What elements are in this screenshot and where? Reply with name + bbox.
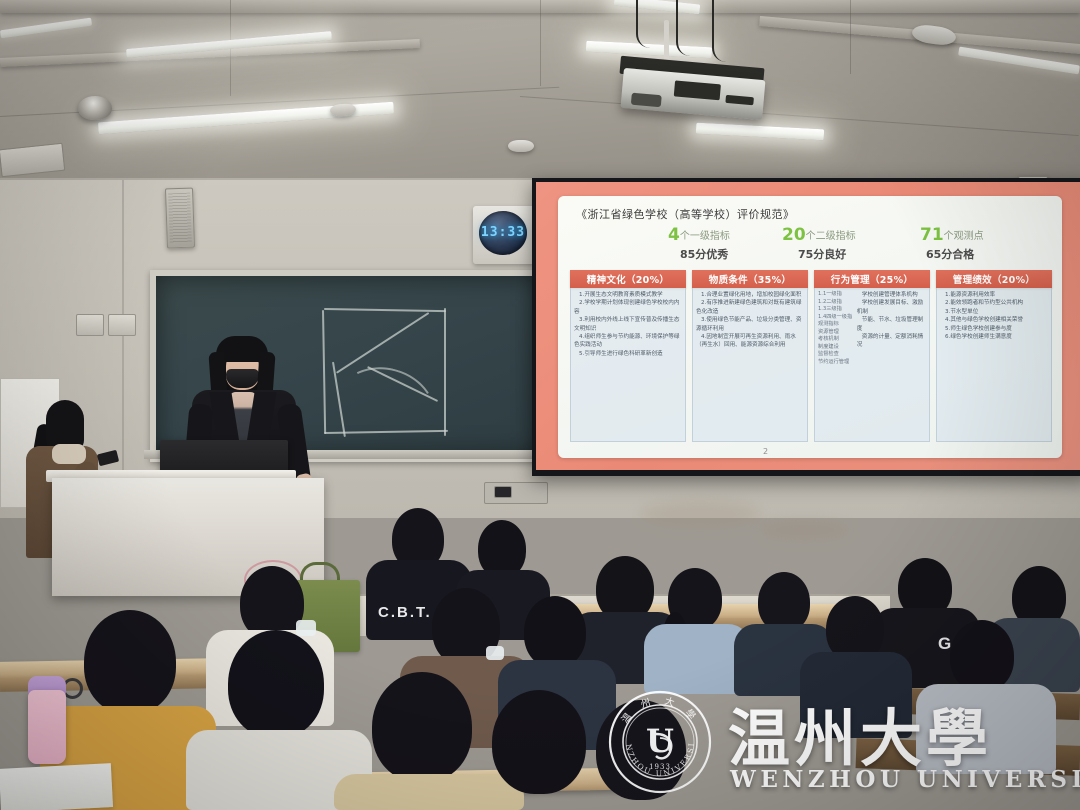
column-item: 资源的计量、定额消耗情况 [857, 333, 926, 350]
slide-title: 《浙江省绿色学校（高等学校）评价规范》 [576, 206, 795, 222]
kpi-number: 20 [782, 225, 806, 245]
student-head [228, 630, 324, 738]
chalk-stroke [444, 308, 446, 436]
dome-camera-icon [78, 96, 112, 120]
projection-screen: 《浙江省绿色学校（高等学校）评价规范》 4个一级指标 20个二级指标 71个观测… [532, 178, 1080, 476]
student-head [758, 572, 810, 632]
column-item: 2.有序推进新建绿色建筑和对既有建筑绿色化改造 [696, 299, 804, 316]
column-header: 行为管理（25%） [814, 270, 930, 288]
slide-score: 75分良好 [798, 246, 846, 262]
student-torso [800, 652, 912, 738]
column-item: 6.绿色学校创建师生满意度 [940, 333, 1048, 341]
projector-cable [676, 0, 700, 56]
slide-column-spiritual-culture: 精神文化（20%） 1.开展生态文明教育素质模式教学 2.学校学期计划体现创建绿… [570, 270, 686, 442]
presenter-face-mask [226, 369, 259, 388]
student-head [240, 566, 304, 640]
speaker-grill [168, 193, 192, 244]
clock-face: 13:33 [479, 211, 527, 255]
standing-person-collar [52, 444, 86, 464]
column-sub-list: 1.1一级指 1.2二级指 1.3三级指 1.4四级一级指 观测指标 资源管理 … [818, 291, 855, 439]
column-item: 4.组织师生参与节约能源、环境保护等绿色实践活动 [574, 333, 682, 350]
face-mask [486, 646, 504, 660]
column-item: 3.使用绿色节能产品、垃圾分类管理、资源循环利用 [696, 316, 804, 333]
slide-page-number: 2 [763, 447, 768, 456]
kpi-number: 4 [668, 225, 680, 245]
column-header: 管理绩效（20%） [936, 270, 1052, 288]
slide-score-row: 85分优秀 75分良好 65分合格 [590, 246, 1038, 264]
wall-switch-plate[interactable] [108, 314, 136, 336]
student-head [84, 610, 176, 714]
clock-time: 13:33 [479, 225, 527, 240]
column-note: 5.采用智能化技术进行校园建筑及设备的绿色运行管理 [818, 441, 926, 442]
slide-kpi-row: 4个一级指标 20个二级指标 71个观测点 [590, 224, 1038, 246]
column-item: 节能、节水、垃圾管理制度 [857, 316, 926, 333]
kpi-label: 个一级指标 [680, 231, 730, 242]
projector-panel [674, 80, 721, 100]
slide-score: 65分合格 [926, 246, 974, 262]
ceiling-panel-line [850, 0, 851, 74]
column-item: 3.节水型单位 [940, 308, 1048, 316]
student-torso [916, 684, 1056, 774]
wall-switch-plate[interactable] [76, 314, 104, 336]
paper-on-desk [0, 763, 113, 810]
projector-port [725, 95, 754, 105]
projector-lens [631, 93, 662, 108]
student-head [524, 596, 586, 668]
column-body: 1.1一级指 1.2二级指 1.3三级指 1.4四级一级指 观测指标 资源管理 … [814, 288, 930, 442]
column-item: 学校创建发展目标、激励机制 [857, 299, 926, 316]
projector-cable [712, 0, 740, 62]
student-torso [334, 774, 524, 810]
column-item: 5.师生绿色学校创建参与度 [940, 325, 1048, 333]
face-mask [296, 620, 316, 636]
column-main-list: 学校创建管理体系机构 学校创建发展目标、激励机制 节能、节水、垃圾管理制度 资源… [857, 291, 926, 439]
column-sub-item: 监督检查 [818, 351, 855, 359]
chalk-stroke [322, 310, 326, 434]
column-item: 2.能效领跑者和节约型公共机构 [940, 299, 1048, 307]
student-head [372, 672, 472, 782]
column-item: 2.学校学期计划体现创建绿色学校校内内容 [574, 299, 682, 316]
kpi-number: 71 [920, 225, 944, 245]
column-item: 1.开展生态文明教育素质模式教学 [574, 291, 682, 299]
column-item: 3.利用校内外线上线下宣传普及传播生态文明知识 [574, 316, 682, 333]
column-item: 4.其他与绿色学校创建相关荣誉 [940, 316, 1048, 324]
column-sub-item: 观测指标 [818, 321, 855, 329]
slide-kpi: 4个一级指标 [668, 224, 730, 245]
column-sub-item: 1.2二级指 [818, 299, 855, 307]
column-header: 精神文化（20%） [570, 270, 686, 288]
column-header: 物质条件（35%） [692, 270, 808, 288]
smoke-detector-icon [508, 140, 534, 152]
wall-smudge [760, 520, 850, 540]
column-sub-item: 1.4四级一级指 [818, 314, 855, 322]
column-item: 1.能源资源利用效率 [940, 291, 1048, 299]
column-item: 4.因地制宜开展可再生资源利用、雨水（再生水）回用、能源资源综合利用 [696, 333, 804, 350]
slide-columns: 精神文化（20%） 1.开展生态文明教育素质模式教学 2.学校学期计划体现创建绿… [570, 270, 1052, 442]
column-split: 1.1一级指 1.2二级指 1.3三级指 1.4四级一级指 观测指标 资源管理 … [818, 291, 926, 439]
kpi-label: 个观测点 [944, 231, 984, 242]
student-head [950, 620, 1014, 692]
wall-smudge [640, 500, 760, 528]
slide-kpi: 20个二级指标 [782, 224, 856, 245]
column-sub-item: 1.1一级指 [818, 291, 855, 299]
slide-column-management-performance: 管理绩效（20%） 1.能源资源利用效率 2.能效领跑者和节约型公共机构 3.节… [936, 270, 1052, 442]
student-head [492, 690, 586, 794]
column-item: 1.合理业置绿化用地，增加校园绿化面积 [696, 291, 804, 299]
column-body: 1.合理业置绿化用地，增加校园绿化面积 2.有序推进新建绿色建筑和对既有建筑绿色… [692, 288, 808, 442]
slide-content-panel: 《浙江省绿色学校（高等学校）评价规范》 4个一级指标 20个二级指标 71个观测… [558, 196, 1062, 458]
wall-clock: 13:33 [473, 206, 535, 264]
presentation-slide: 《浙江省绿色学校（高等学校）评价规范》 4个一级指标 20个二级指标 71个观测… [536, 182, 1080, 470]
column-body: 1.开展生态文明教育素质模式教学 2.学校学期计划体现创建绿色学校校内内容 3.… [570, 288, 686, 442]
wall-equipment-indicator [494, 486, 512, 498]
slide-score: 85分优秀 [680, 246, 728, 262]
lecture-hall-photo: 13:33 《浙江省绿色学校（高等学校）评价规范》 4个一级指标 20个二级指标… [0, 0, 1080, 810]
column-sub-item: 考核机制 [818, 336, 855, 344]
column-sub-item: 1.3三级指 [818, 306, 855, 314]
slide-kpi: 71个观测点 [920, 224, 984, 245]
column-sub-item: 节约运行管理 [818, 359, 855, 367]
column-item: 学校创建管理体系机构 [857, 291, 926, 299]
kpi-label: 个二级指标 [806, 231, 856, 242]
water-bottle [28, 690, 66, 764]
hoodie-text: C.B.T. [378, 604, 432, 621]
chalk-arc [324, 356, 445, 465]
slide-column-behavior-management: 行为管理（25%） 1.1一级指 1.2二级指 1.3三级指 1.4四级一级指 … [814, 270, 930, 442]
wall-speaker-left [165, 188, 195, 249]
student-head [596, 700, 686, 800]
column-item: 5.引导师生进行绿色科研革新创造 [574, 350, 682, 358]
ceiling-panel-line [540, 0, 541, 86]
chalk-stroke [336, 312, 429, 374]
column-body: 1.能源资源利用效率 2.能效领跑者和节约型公共机构 3.节水型单位 4.其他与… [936, 288, 1052, 442]
slide-column-material-conditions: 物质条件（35%） 1.合理业置绿化用地，增加校园绿化面积 2.有序推进新建绿色… [692, 270, 808, 442]
projector-cable [636, 0, 654, 48]
